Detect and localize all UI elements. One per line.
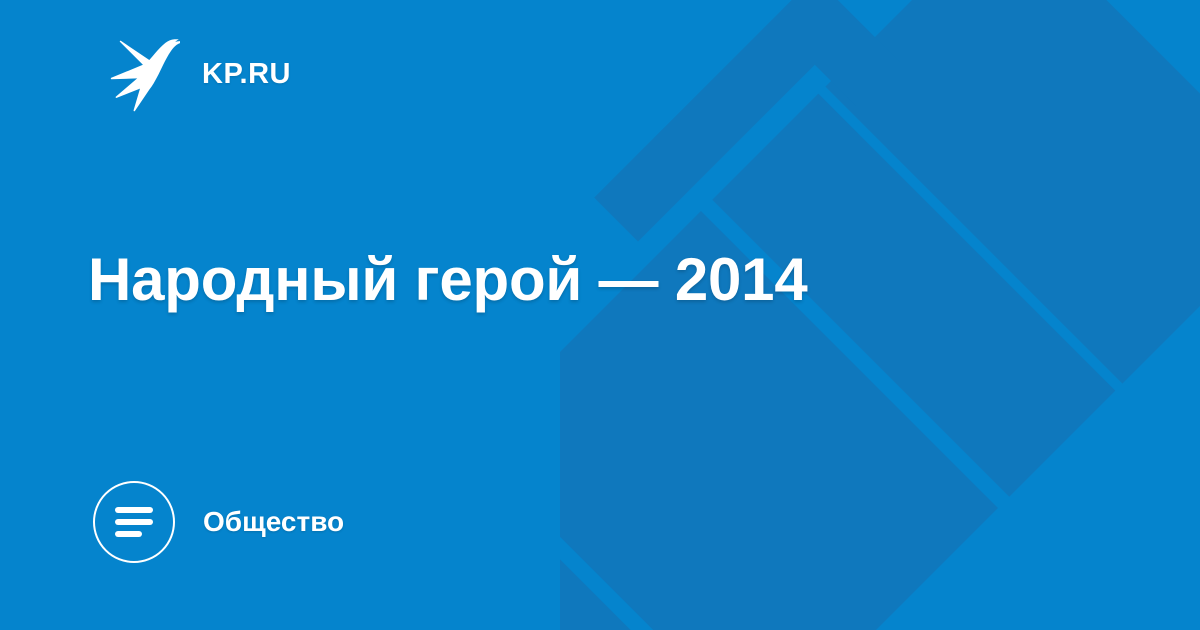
- line-2: [115, 519, 153, 525]
- category-label: Общество: [203, 508, 344, 536]
- category-badge[interactable]: Общество: [93, 481, 344, 563]
- swallow-bird-icon: [108, 36, 180, 112]
- pencil-icon: [560, 0, 1200, 630]
- site-logo[interactable]: KP.RU: [108, 36, 291, 112]
- page-title: Народный герой — 2014: [88, 246, 1088, 314]
- line-3: [115, 531, 142, 537]
- line-1: [115, 507, 153, 513]
- hamburger-lines-icon: [93, 481, 175, 563]
- share-card: KP.RU Народный герой — 2014 Общество: [0, 0, 1200, 630]
- brand-name: KP.RU: [202, 60, 291, 89]
